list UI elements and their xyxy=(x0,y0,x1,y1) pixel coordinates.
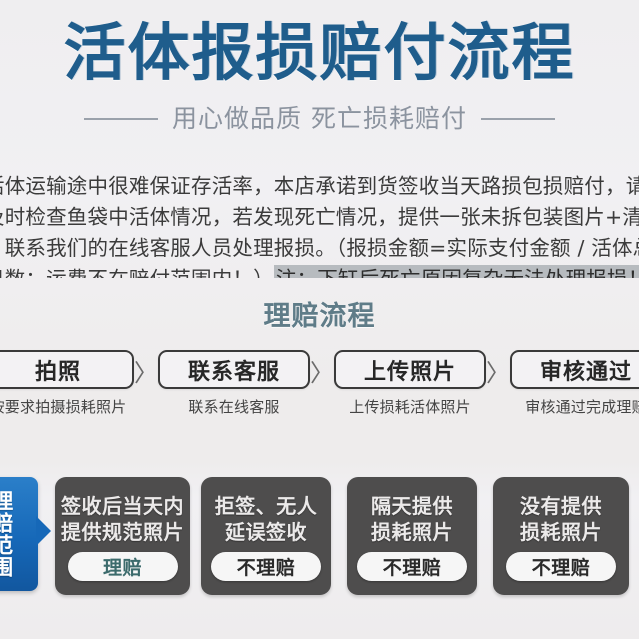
policy-line-3: ，联系我们的在线客服人员处理报损。（报损金额=实际支付金额 / 活体总只数*死亡 xyxy=(0,238,639,259)
scope-card-1-text: 签收后当天内 提供规范照片 xyxy=(61,493,184,546)
flow-step-4-pill[interactable]: 审核通过 xyxy=(510,350,639,389)
flow-step-3-pill[interactable]: 上传照片 xyxy=(334,350,486,389)
subtitle-rule-right xyxy=(481,118,555,120)
scope-card-4-badge: 不理赔 xyxy=(506,552,616,581)
policy-line-4: 只数；运费不在赔付范围内！）注：下缸后死亡原因复杂无法处理报损！ xyxy=(0,269,639,278)
scope-card-1-badge: 理赔 xyxy=(68,552,178,581)
flow-step-2-pill[interactable]: 联系客服 xyxy=(158,350,310,389)
scope-card-3-badge: 不理赔 xyxy=(357,552,467,581)
scope-card-2-text: 拒签、无人 延误签收 xyxy=(215,493,318,546)
policy-note-highlight: 注：下缸后死亡原因复杂无法处理报损！ xyxy=(274,265,639,278)
flow-step-3-caption: 上传损耗活体照片 xyxy=(349,396,471,417)
flow-step-3[interactable]: 上传照片 上传损耗活体照片 xyxy=(334,350,486,417)
subtitle-rule-left xyxy=(84,118,158,120)
policy-paragraph: 活体运输途中很难保证存活率，本店承诺到货签收当天路损包损赔付，请在收到货 及时检… xyxy=(0,170,639,278)
policy-line-2: 及时检查鱼袋中活体情况，若发现死亡情况，提供一张未拆包装图片+清点数量图片 xyxy=(0,207,639,228)
scope-card-4[interactable]: 没有提供 损耗照片 不理赔 xyxy=(493,477,629,595)
flow-step-1-pill[interactable]: 拍照 xyxy=(0,350,134,389)
policy-line-1: 活体运输途中很难保证存活率，本店承诺到货签收当天路损包损赔付，请在收到货 xyxy=(0,176,639,197)
subtitle-row: 用心做品质 死亡损耗赔付 xyxy=(0,106,639,131)
scope-card-1[interactable]: 签收后当天内 提供规范照片 理赔 xyxy=(55,477,190,595)
scope-card-2-badge: 不理赔 xyxy=(211,552,321,581)
flow-step-1-caption: 按要求拍摄损耗照片 xyxy=(0,396,126,417)
scope-card-list: 签收后当天内 提供规范照片 理赔 拒签、无人 延误签收 不理赔 隔天提供 损耗照… xyxy=(0,477,639,595)
page-title: 活体报损赔付流程 xyxy=(0,22,639,84)
promo-page: 活体报损赔付流程 用心做品质 死亡损耗赔付 活体运输途中很难保证存活率，本店承诺… xyxy=(0,0,639,639)
scope-card-3[interactable]: 隔天提供 损耗照片 不理赔 xyxy=(347,477,477,595)
flow-steps: 拍照 按要求拍摄损耗照片 〉 联系客服 联系在线客服 〉 上传照片 上传损耗活体… xyxy=(0,350,639,417)
flow-step-4[interactable]: 审核通过 审核通过完成理赔 xyxy=(510,350,639,417)
scope-card-3-text: 隔天提供 损耗照片 xyxy=(371,493,453,546)
flow-step-2[interactable]: 联系客服 联系在线客服 xyxy=(158,350,310,417)
header-banner: 活体报损赔付流程 用心做品质 死亡损耗赔付 xyxy=(0,0,639,158)
flow-heading: 理赔流程 xyxy=(0,303,639,330)
flow-step-1[interactable]: 拍照 按要求拍摄损耗照片 xyxy=(0,350,134,417)
chevron-right-icon-1: 〉 xyxy=(134,361,158,385)
flow-step-4-caption: 审核通过完成理赔 xyxy=(525,396,639,417)
scope-card-4-text: 没有提供 损耗照片 xyxy=(520,493,602,546)
chevron-right-icon-2: 〉 xyxy=(310,361,334,385)
policy-line-4-prefix: 只数；运费不在赔付范围内！） xyxy=(0,267,274,278)
flow-step-2-caption: 联系在线客服 xyxy=(188,396,279,417)
page-subtitle: 用心做品质 死亡损耗赔付 xyxy=(172,106,467,131)
chevron-right-icon-3: 〉 xyxy=(486,361,510,385)
scope-card-2[interactable]: 拒签、无人 延误签收 不理赔 xyxy=(201,477,331,595)
